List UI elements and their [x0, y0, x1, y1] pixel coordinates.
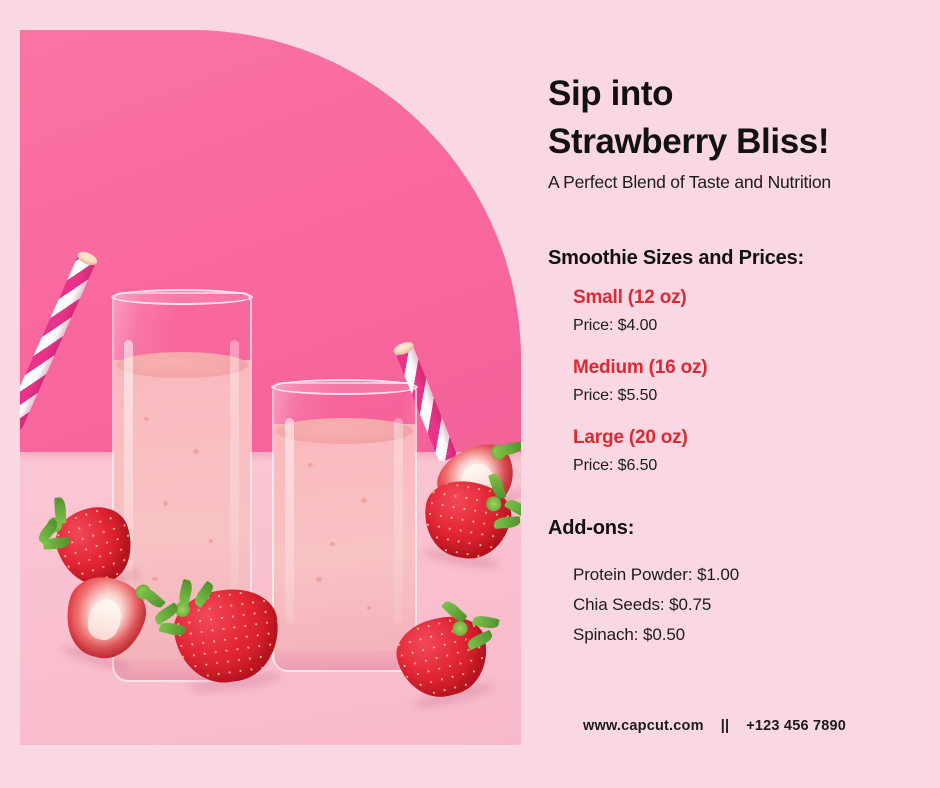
- strawberry-whole: [418, 475, 516, 565]
- addon-protein-powder: Protein Powder: $1.00: [573, 565, 739, 585]
- glass-base-right: [275, 650, 414, 672]
- addons-heading: Add-ons:: [548, 517, 634, 540]
- footer-separator: ||: [721, 718, 730, 734]
- headline-subtitle: A Perfect Blend of Taste and Nutrition: [548, 172, 831, 193]
- size-price-large: Price: $6.50: [573, 457, 657, 475]
- photo-backdrop-wall: [20, 30, 521, 452]
- size-price-small: Price: $4.00: [573, 317, 657, 335]
- size-price-medium: Price: $5.50: [573, 387, 657, 405]
- addon-spinach: Spinach: $0.50: [573, 625, 685, 645]
- size-name-medium: Medium (16 oz): [573, 357, 707, 379]
- glass-rim-right: [271, 379, 418, 395]
- headline-line-1: Sip into: [548, 72, 673, 116]
- hero-photo: [20, 30, 521, 745]
- size-name-small: Small (12 oz): [573, 287, 687, 309]
- glass-highlight-right: [285, 418, 294, 624]
- sizes-heading: Smoothie Sizes and Prices:: [548, 247, 804, 270]
- headline-line-2: Strawberry Bliss!: [548, 120, 829, 164]
- footer-contact: www.capcut.com || +123 456 7890: [583, 718, 846, 734]
- footer-phone[interactable]: +123 456 7890: [746, 718, 846, 734]
- smoothie-surface-left: [116, 352, 248, 378]
- poster-content: Sip into Strawberry Bliss! A Perfect Ble…: [548, 0, 940, 788]
- strawberry-whole: [169, 583, 285, 689]
- glass-rim-left: [111, 289, 253, 305]
- size-name-large: Large (20 oz): [573, 427, 688, 449]
- footer-website[interactable]: www.capcut.com: [583, 718, 704, 734]
- addon-chia-seeds: Chia Seeds: $0.75: [573, 595, 711, 615]
